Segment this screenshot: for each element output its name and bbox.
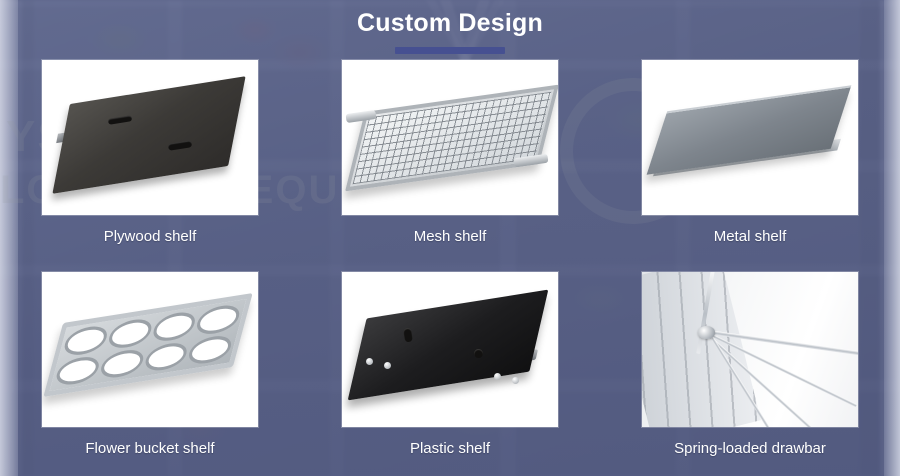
title-underline-rule xyxy=(395,47,505,54)
mesh-shelf-wire-grid xyxy=(353,92,552,185)
spring-loaded-drawbar-photo xyxy=(642,272,858,427)
product-caption: Plastic shelf xyxy=(410,440,490,457)
product-card-metal-shelf[interactable]: Metal shelf xyxy=(600,60,900,272)
bucket-hole xyxy=(194,303,242,336)
plastic-shelf-stud xyxy=(512,377,519,384)
plastic-shelf-stud xyxy=(384,362,391,369)
plywood-shelf-artwork xyxy=(42,60,258,215)
product-caption: Metal shelf xyxy=(714,228,787,245)
product-card-spring-loaded-drawbar[interactable]: Spring-loaded drawbar xyxy=(600,272,900,476)
custom-design-page: YSTLITY LOGISTICS EQUIPMENT Custom Desig… xyxy=(0,0,900,476)
bucket-hole xyxy=(150,310,198,343)
flower-bucket-shelf-frame xyxy=(43,293,252,397)
spring-loaded-drawbar-artwork xyxy=(642,272,858,427)
plastic-shelf-artwork xyxy=(342,272,558,427)
product-caption: Plywood shelf xyxy=(104,228,197,245)
plastic-shelf-photo xyxy=(342,272,558,427)
product-card-mesh-shelf[interactable]: Mesh shelf xyxy=(300,60,600,272)
plastic-shelf-panel xyxy=(348,290,549,401)
drawbar-pivot-bushing xyxy=(698,326,715,339)
plywood-shelf-panel xyxy=(52,76,245,194)
product-card-plastic-shelf[interactable]: Plastic shelf xyxy=(300,272,600,476)
bucket-hole xyxy=(106,317,154,350)
metal-shelf-artwork xyxy=(642,60,858,215)
product-caption: Mesh shelf xyxy=(414,228,487,245)
bucket-hole xyxy=(53,354,101,387)
bucket-hole xyxy=(142,340,190,373)
metal-shelf-photo xyxy=(642,60,858,215)
product-grid: Plywood shelf Mesh shelf xyxy=(0,60,900,476)
product-card-flower-bucket-shelf[interactable]: Flower bucket shelf xyxy=(0,272,300,476)
flower-bucket-shelf-photo xyxy=(42,272,258,427)
bucket-hole xyxy=(98,347,146,380)
mesh-shelf-photo xyxy=(342,60,558,215)
plywood-shelf-photo xyxy=(42,60,258,215)
bucket-hole xyxy=(62,324,110,357)
page-title: Custom Design xyxy=(0,6,900,40)
mesh-shelf-artwork xyxy=(342,60,558,215)
product-caption: Flower bucket shelf xyxy=(85,440,214,457)
bucket-hole xyxy=(186,333,234,366)
mesh-shelf-frame xyxy=(345,85,558,192)
product-caption: Spring-loaded drawbar xyxy=(674,440,826,457)
plastic-shelf-stud xyxy=(494,373,501,380)
plastic-shelf-stud xyxy=(366,358,373,365)
product-card-plywood-shelf[interactable]: Plywood shelf xyxy=(0,60,300,272)
page-header: Custom Design xyxy=(0,6,900,54)
flower-bucket-shelf-artwork xyxy=(42,272,258,427)
